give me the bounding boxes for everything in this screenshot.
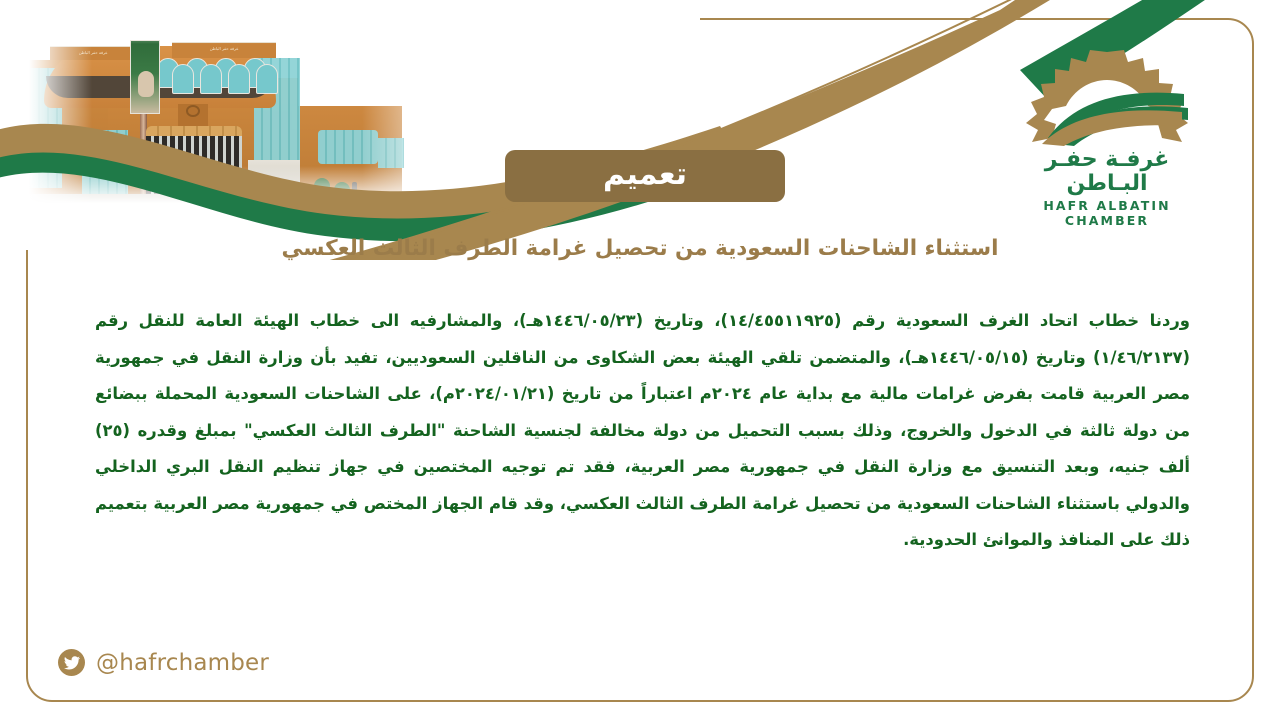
arched-window	[200, 64, 222, 94]
circular-body-text: وردنا خطاب اتحاد الغرف السعودية رقم (١٤/…	[95, 303, 1190, 559]
logo-name-english: HAFR ALBATIN CHAMBER	[1012, 198, 1202, 228]
gear-road-logo-icon	[1012, 46, 1202, 146]
badge-label: تعميم	[603, 160, 687, 193]
chamber-building-photo: غرفة حفر الباطن غرفة حفر الباطن	[22, 18, 482, 208]
twitter-bird-glyph	[63, 656, 80, 670]
arched-window	[256, 64, 278, 94]
arched-window	[172, 64, 194, 94]
page-title: استثناء الشاحنات السعودية من تحصيل غرامة…	[0, 236, 1280, 261]
chamber-logo: غرفـة حفـر البـاطن HAFR ALBATIN CHAMBER	[1012, 46, 1202, 196]
portrait-banner	[130, 40, 160, 114]
arched-window-row-secondary	[170, 64, 278, 92]
logo-name-arabic: غرفـة حفـر البـاطن	[1012, 148, 1202, 196]
twitter-icon[interactable]	[58, 649, 85, 676]
social-handle[interactable]: @hafrchamber	[58, 649, 269, 676]
photo-edge-fade-bottom	[22, 166, 482, 208]
portrait-figure	[138, 71, 154, 97]
building-emblem	[178, 104, 208, 126]
arched-window	[228, 64, 250, 94]
signboard-text: غرفة حفر الباطن	[172, 47, 276, 51]
building-signboard-right: غرفة حفر الباطن	[172, 42, 276, 58]
social-handle-text[interactable]: @hafrchamber	[96, 650, 269, 676]
circular-poster: غرفة حفر الباطن غرفة حفر الباطن	[0, 0, 1280, 720]
emblem-ring	[186, 105, 200, 117]
circular-title-badge: تعميم	[505, 150, 785, 202]
